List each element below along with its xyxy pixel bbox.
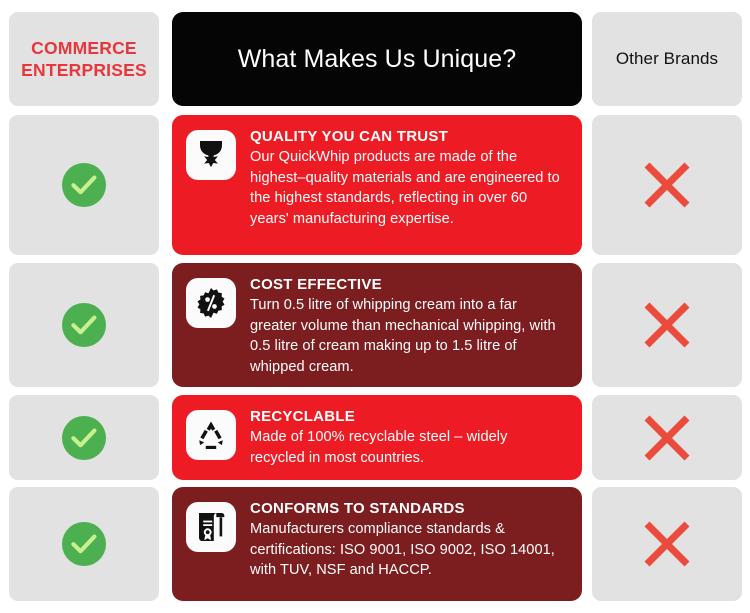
feature-text: COST EFFECTIVETurn 0.5 litre of whipping… — [250, 276, 566, 378]
feature-text: CONFORMS TO STANDARDSManufacturers compl… — [250, 500, 566, 581]
brand-name: COMMERCE ENTERPRISES — [17, 37, 151, 82]
green-check-icon — [62, 522, 106, 566]
green-check-icon — [62, 416, 106, 460]
other-brands-cell — [592, 487, 742, 601]
feature-description: Manufacturers compliance standards & cer… — [250, 519, 566, 581]
feature-description: Turn 0.5 litre of whipping cream into a … — [250, 295, 566, 378]
other-brands-cell — [592, 263, 742, 387]
table-row: COST EFFECTIVETurn 0.5 litre of whipping… — [0, 263, 750, 387]
recycle-icon — [186, 410, 236, 460]
award-medal-icon — [186, 130, 236, 180]
red-cross-icon — [640, 158, 694, 212]
header-title-cell: What Makes Us Unique? — [172, 12, 582, 106]
table-row: RECYCLABLEMade of 100% recyclable steel … — [0, 395, 750, 480]
table-row: QUALITY YOU CAN TRUSTOur QuickWhip produ… — [0, 115, 750, 255]
red-cross-icon — [640, 298, 694, 352]
feature-description: Our QuickWhip products are made of the h… — [250, 147, 566, 230]
feature-card[interactable]: RECYCLABLEMade of 100% recyclable steel … — [172, 395, 582, 480]
table-row: CONFORMS TO STANDARDSManufacturers compl… — [0, 487, 750, 601]
header-competitor-cell: Other Brands — [592, 12, 742, 106]
competitor-label: Other Brands — [616, 49, 718, 69]
green-check-icon — [62, 303, 106, 347]
feature-description: Made of 100% recyclable steel – widely r… — [250, 427, 566, 468]
red-cross-icon — [640, 411, 694, 465]
table-header-row: COMMERCE ENTERPRISES What Makes Us Uniqu… — [0, 12, 750, 106]
brand-name-line1: COMMERCE — [21, 37, 147, 59]
feature-card[interactable]: CONFORMS TO STANDARDSManufacturers compl… — [172, 487, 582, 601]
brand-name-line2: ENTERPRISES — [21, 59, 147, 81]
green-check-icon — [62, 163, 106, 207]
other-brands-cell — [592, 115, 742, 255]
feature-text: RECYCLABLEMade of 100% recyclable steel … — [250, 408, 566, 468]
red-cross-icon — [640, 517, 694, 571]
header-brand-cell: COMMERCE ENTERPRISES — [9, 12, 159, 106]
feature-card[interactable]: QUALITY YOU CAN TRUSTOur QuickWhip produ… — [172, 115, 582, 255]
feature-title: RECYCLABLE — [250, 408, 566, 426]
our-brand-cell — [9, 395, 159, 480]
certificate-icon — [186, 502, 236, 552]
other-brands-cell — [592, 395, 742, 480]
page-title: What Makes Us Unique? — [238, 45, 517, 74]
feature-text: QUALITY YOU CAN TRUSTOur QuickWhip produ… — [250, 128, 566, 230]
our-brand-cell — [9, 487, 159, 601]
comparison-table: COMMERCE ENTERPRISES What Makes Us Uniqu… — [0, 0, 750, 613]
feature-title: COST EFFECTIVE — [250, 276, 566, 294]
feature-title: CONFORMS TO STANDARDS — [250, 500, 566, 518]
our-brand-cell — [9, 115, 159, 255]
feature-title: QUALITY YOU CAN TRUST — [250, 128, 566, 146]
feature-card[interactable]: COST EFFECTIVETurn 0.5 litre of whipping… — [172, 263, 582, 387]
percent-badge-icon — [186, 278, 236, 328]
our-brand-cell — [9, 263, 159, 387]
